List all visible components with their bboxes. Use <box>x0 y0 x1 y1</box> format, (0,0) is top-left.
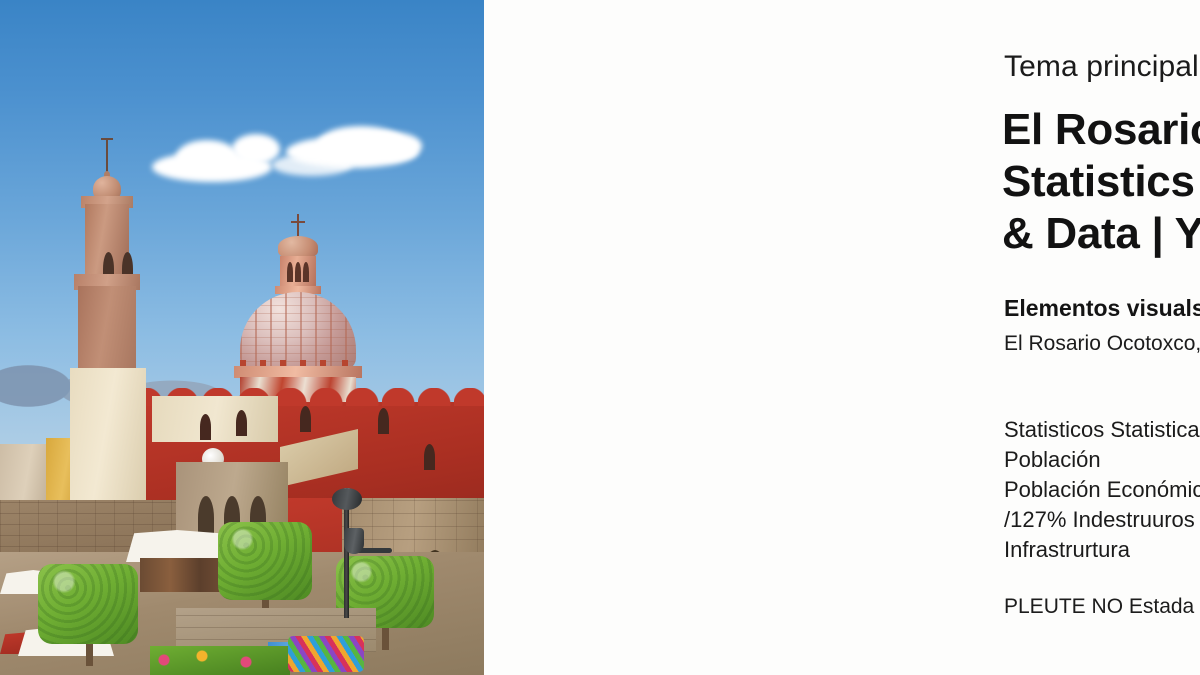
slide-root: Tema principal El Rosario Ocotoxco Stati… <box>0 0 1200 675</box>
church-window <box>236 410 247 436</box>
eyebrow-label: Tema principal <box>1004 50 1199 84</box>
cross-icon <box>291 221 305 223</box>
footnote-text: PLEUTE NO Estada Tlaxcala <box>1004 595 1200 619</box>
page-title-line-3: & Data | Yauhquemehcan <box>1002 208 1200 260</box>
tree-trunk <box>382 626 389 650</box>
flower-bed <box>150 646 290 675</box>
cloud-icon <box>176 140 238 174</box>
tree-trunk <box>86 642 93 666</box>
colorful-textiles <box>288 636 364 672</box>
page-title-line-2: Statistics - Demographics <box>1002 156 1200 208</box>
lamp-lantern-icon <box>344 528 364 554</box>
stat-label: /127% Indestruuros <box>1004 505 1195 535</box>
church-window <box>300 406 311 432</box>
table-row: Infrastrurtura 8,19% <box>1004 535 1200 565</box>
table-row: Población 28,5 % <box>1004 445 1200 475</box>
stat-label: Infrastrurtura <box>1004 535 1130 565</box>
church-cream-parapet <box>152 396 278 442</box>
stat-label: Statisticos Statisticas y <box>1004 415 1200 445</box>
table-row: Población Económicas 237% <box>1004 475 1200 505</box>
spire <box>106 140 108 172</box>
page-title: El Rosario Ocotoxco Statistics - Demogra… <box>1002 104 1200 260</box>
topiary-tree <box>38 564 138 644</box>
lamp-head-icon <box>332 488 362 510</box>
section-subtitle: El Rosario Ocotoxco, Yauhquemcan, Tlaxca… <box>1004 332 1200 356</box>
stat-label: Población <box>1004 445 1101 475</box>
topiary-tree <box>218 522 312 600</box>
page-title-line-1: El Rosario Ocotoxco <box>1002 104 1200 156</box>
table-row: /127% Indestruuros 50% <box>1004 505 1200 535</box>
plaza-foreground <box>0 500 484 675</box>
tower-upper-stage <box>85 204 129 276</box>
church-window <box>378 408 389 434</box>
stat-label: Población Económicas <box>1004 475 1200 505</box>
church-window <box>424 444 435 470</box>
cloud-icon <box>272 154 352 176</box>
hero-photo <box>0 0 484 675</box>
cloud-icon <box>362 132 422 160</box>
section-heading: Elementos visuals <box>1004 295 1200 322</box>
tiled-cupola <box>240 292 356 370</box>
dome-lantern <box>280 256 316 288</box>
church-window <box>200 414 211 440</box>
lantern-cap <box>278 236 318 258</box>
cloud-icon <box>232 134 280 164</box>
table-row: Statisticos Statisticas y Muniacipio <box>1004 415 1200 445</box>
stats-table: Statisticos Statisticas y Muniacipio Pob… <box>1004 415 1200 565</box>
text-panel: Tema principal El Rosario Ocotoxco Stati… <box>484 0 1200 675</box>
